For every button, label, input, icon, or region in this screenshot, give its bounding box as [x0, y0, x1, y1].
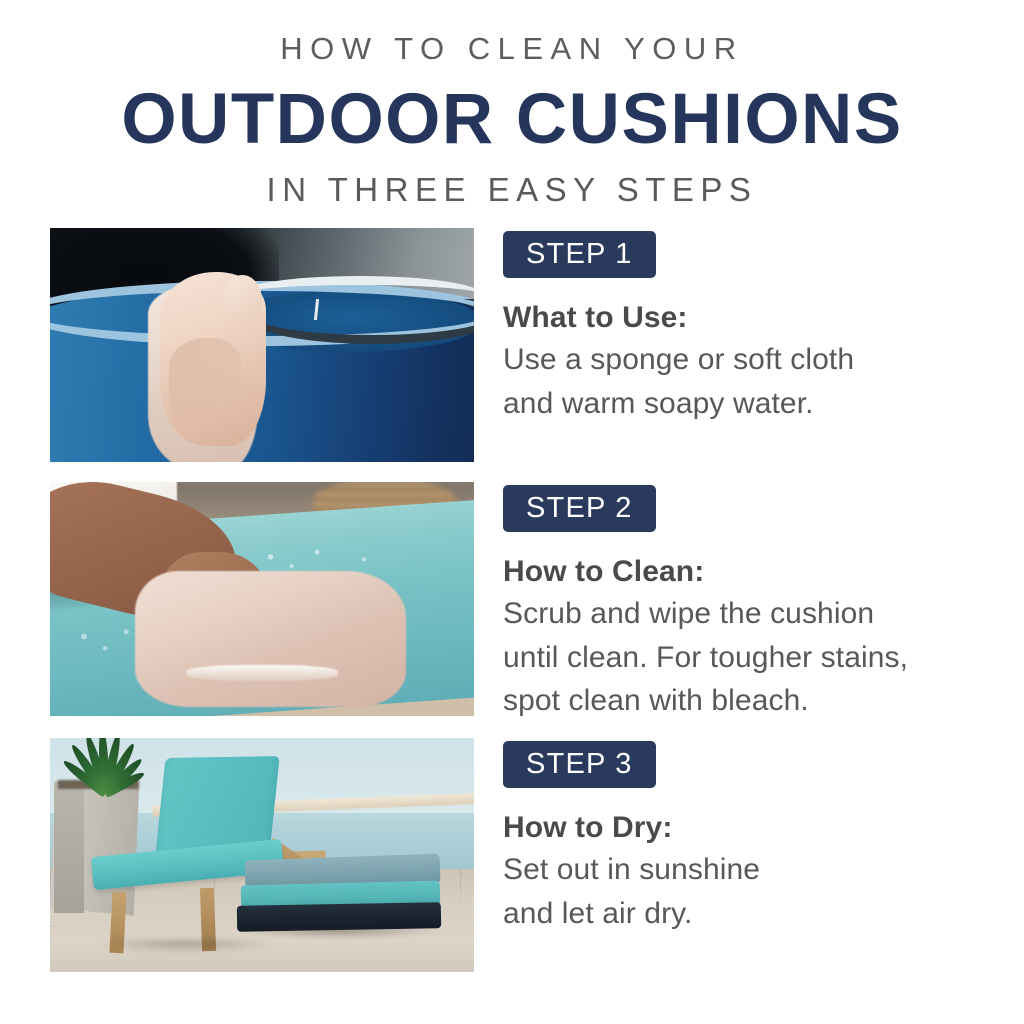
hand-shading	[169, 338, 241, 436]
step-row-1: STEP 1 What to Use: Use a sponge or soft…	[50, 228, 985, 462]
header-subkicker: IN THREE EASY STEPS	[0, 156, 1024, 206]
step-2-body: Scrub and wipe the cushion until clean. …	[503, 592, 985, 722]
page-title: OUTDOOR CUSHIONS	[0, 64, 1024, 156]
header: HOW TO CLEAN YOUR OUTDOOR CUSHIONS IN TH…	[0, 0, 1024, 206]
stack-ground-shadow	[237, 928, 441, 940]
agave-plant	[54, 738, 147, 794]
step-2-badge: STEP 2	[503, 485, 656, 532]
step-2-text: STEP 2 How to Clean: Scrub and wipe the …	[474, 482, 985, 722]
infographic-page: HOW TO CLEAN YOUR OUTDOOR CUSHIONS IN TH…	[0, 0, 1024, 1024]
pink-cleaning-cloth	[135, 571, 406, 707]
step-3-badge: STEP 3	[503, 741, 656, 788]
step-1-heading: What to Use:	[503, 278, 985, 338]
step-3-heading: How to Dry:	[503, 788, 985, 848]
cloth-fold-highlight	[186, 665, 339, 681]
step-1-text: STEP 1 What to Use: Use a sponge or soft…	[474, 228, 985, 425]
step-3-text: STEP 3 How to Dry: Set out in sunshine a…	[474, 738, 985, 935]
step-1-body: Use a sponge or soft cloth and warm soap…	[503, 338, 985, 424]
step-3-body: Set out in sunshine and let air dry.	[503, 848, 985, 934]
step-1-badge: STEP 1	[503, 231, 656, 278]
header-kicker: HOW TO CLEAN YOUR	[0, 0, 1024, 64]
step-row-2: STEP 2 How to Clean: Scrub and wipe the …	[50, 482, 985, 722]
planter-side-face	[54, 782, 84, 913]
step-3-photo	[50, 738, 474, 972]
step-row-3: STEP 3 How to Dry: Set out in sunshine a…	[50, 738, 985, 972]
step-1-photo	[50, 228, 474, 462]
step-2-heading: How to Clean:	[503, 532, 985, 592]
chair-ground-shadow	[101, 939, 271, 953]
step-2-photo	[50, 482, 474, 716]
